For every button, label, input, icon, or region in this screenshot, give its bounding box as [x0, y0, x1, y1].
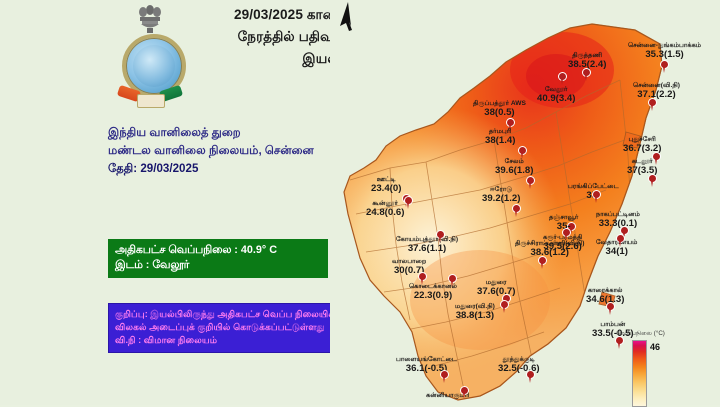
station-value: 22.3(0.9) — [409, 291, 457, 301]
weather-map-page: 29/03/2025 காலை 8.30 மணியுடன் முடிவடைந்த… — [0, 0, 720, 405]
emblem-ribbon — [118, 82, 182, 110]
station-pin-icon — [436, 230, 445, 243]
station-value: 37.6(1.1) — [396, 244, 458, 254]
station-value: 39.2(1.2) — [482, 194, 520, 204]
station-pin-icon — [526, 176, 535, 189]
colorbar-max-tick: 46 — [650, 342, 660, 352]
station-label: ஈரோடு39.2(1.2) — [482, 186, 520, 204]
max-temperature-location: இடம் : வேலூர் — [115, 258, 321, 273]
station-label: திருத்தணி38.5(2.4) — [568, 52, 606, 70]
station-label: திருப்பத்தூர் AWS38(0.5) — [473, 100, 526, 118]
max-temperature-value: அதிகபட்ச வெப்பநிலை : 40.9° C — [115, 243, 321, 258]
station-pin-icon — [558, 72, 567, 85]
station-label: சென்னை(வி.நி)37.1(2.2) — [633, 82, 680, 100]
station-label: கடலூர்37(3.5) — [627, 158, 657, 176]
station-label: திருச்சிராப்பள்ளி(வி.நி)38.6(1.2) — [515, 240, 584, 258]
station-label: நாகப்பட்டினம்33.3(0.1) — [596, 211, 640, 229]
station-label: தர்மபுரி38(1.4) — [485, 128, 515, 146]
temperature-colorbar: வெப்பநிலை (°C) 46 — [614, 330, 718, 405]
station-value: 33.3(0.1) — [596, 219, 640, 229]
station-value: 38(0.5) — [473, 108, 526, 118]
station-pin-icon — [538, 256, 547, 269]
station-pin-icon — [500, 300, 509, 313]
station-pin-icon — [648, 98, 657, 111]
station-value: 38(1.4) — [485, 136, 515, 146]
station-value: 23.4(0) — [371, 184, 401, 194]
station-pin-icon — [404, 196, 413, 209]
station-pin-icon — [526, 370, 535, 383]
station-pin-icon — [582, 68, 591, 81]
station-pin-icon — [592, 190, 601, 203]
ashoka-lion-capital-icon — [132, 4, 168, 34]
station-label: புதுச்சேரி36.7(3.2) — [623, 136, 661, 154]
station-pin-icon — [660, 60, 669, 73]
station-value: 38.8(1.3) — [455, 311, 495, 321]
station-label: வேலூர்40.9(3.4) — [537, 86, 575, 104]
station-label: மதுரை(வி.நி)38.8(1.3) — [455, 303, 495, 321]
chennai-pointer-arrow-icon — [330, 0, 352, 34]
station-label: கோயம்புத்தூர்(வி.நி)37.6(1.1) — [396, 236, 458, 254]
station-label: ஊட்டி23.4(0) — [371, 176, 401, 194]
station-label: சேலம்39.6(1.8) — [495, 158, 533, 176]
station-pin-icon — [460, 386, 469, 399]
colorbar-title: வெப்பநிலை (°C) — [616, 330, 665, 338]
station-value: 34(1) — [596, 247, 638, 257]
colorbar-gradient — [632, 340, 647, 407]
station-value: 35.3(1.5) — [628, 50, 701, 60]
station-label: சென்னை-நுங்கம்பாக்கம்35.3(1.5) — [628, 42, 701, 60]
station-pin-icon — [616, 234, 625, 247]
station-value: 40.9(3.4) — [537, 94, 575, 104]
station-value: 38.6(1.2) — [515, 248, 584, 258]
station-pin-icon — [440, 370, 449, 383]
station-pin-icon — [648, 174, 657, 187]
station-value: 24.8(0.6) — [366, 208, 404, 218]
station-label: கூன்னூர்24.8(0.6) — [366, 200, 404, 218]
station-pin-icon — [448, 274, 457, 287]
max-temperature-box: அதிகபட்ச வெப்பநிலை : 40.9° C இடம் : வேலூ… — [108, 239, 328, 278]
station-pin-icon — [606, 302, 615, 315]
station-pin-icon — [512, 204, 521, 217]
station-value: 39.6(1.8) — [495, 166, 533, 176]
